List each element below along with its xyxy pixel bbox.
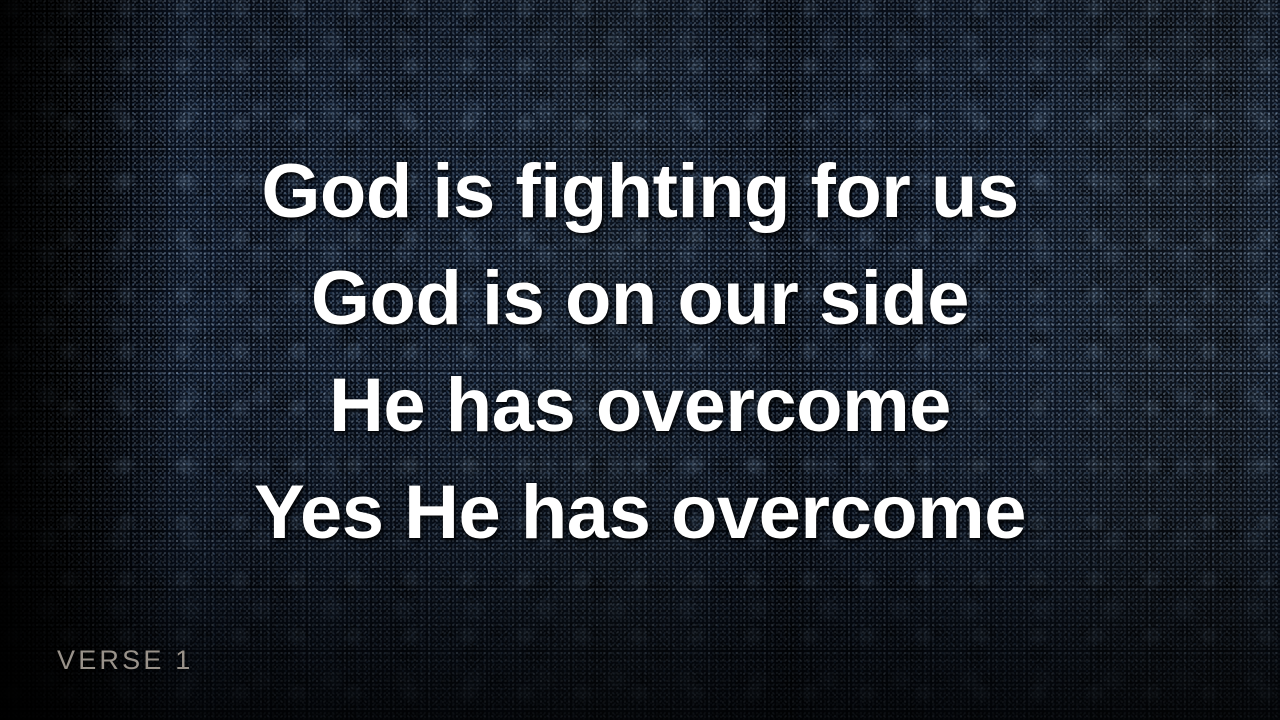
lyric-line-2: God is on our side	[0, 245, 1280, 352]
lyric-line-1: God is fighting for us	[0, 138, 1280, 245]
lyric-line-3: He has overcome	[0, 352, 1280, 459]
lyrics-slide: God is fighting for us God is on our sid…	[0, 0, 1280, 720]
section-label: VERSE 1	[57, 645, 193, 676]
lyric-line-4: Yes He has overcome	[0, 459, 1280, 566]
lyrics-block: God is fighting for us God is on our sid…	[0, 138, 1280, 566]
